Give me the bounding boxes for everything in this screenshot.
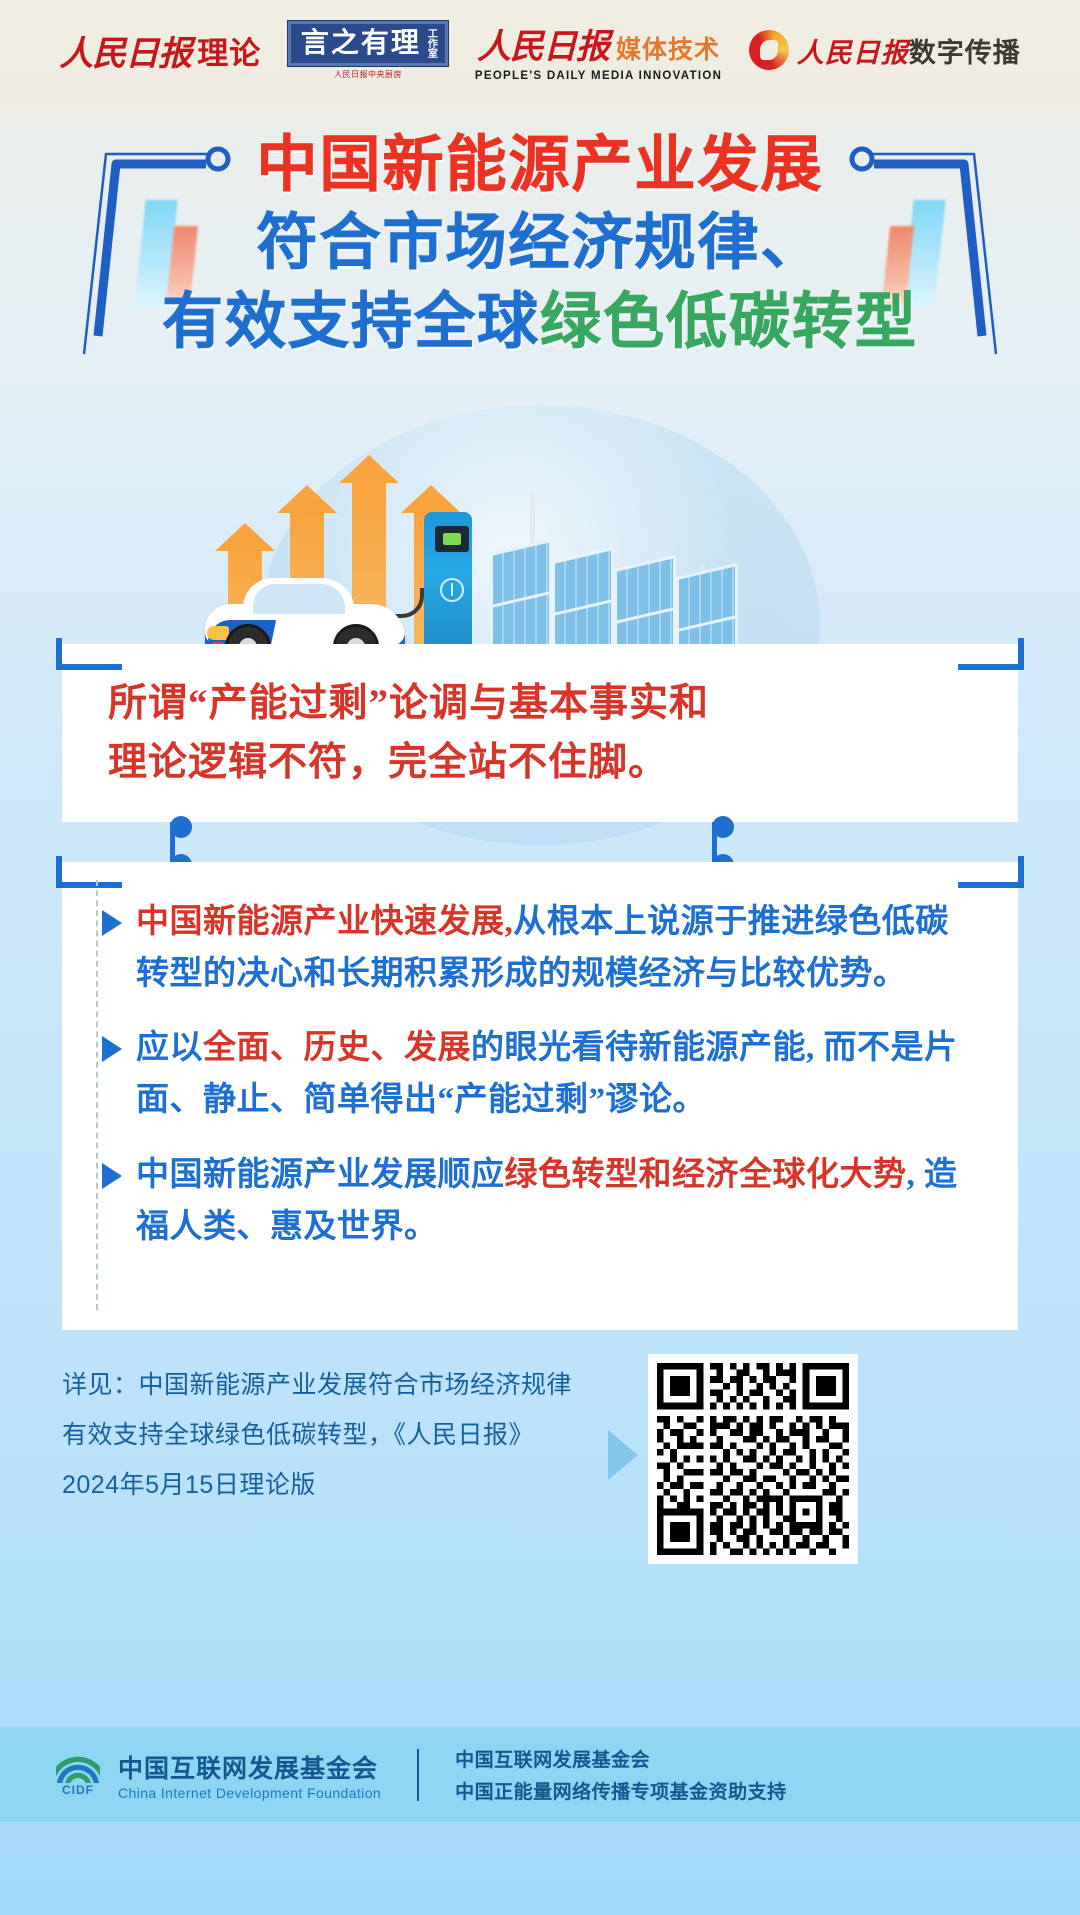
qr-pointer-arrow-icon bbox=[608, 1430, 638, 1480]
logo-peoples-daily-theory: 人民日报 理论 bbox=[59, 26, 261, 75]
bullet-triangle-icon bbox=[102, 1036, 122, 1062]
yanzhiyouli-footnote: 人民日报中央厨房 bbox=[334, 69, 402, 80]
connector-dot-right bbox=[712, 816, 734, 838]
bullet-triangle-icon bbox=[102, 1163, 122, 1189]
logo-peoples-daily-digital-communication: 人民日报数字传播 bbox=[749, 30, 1021, 70]
bullet-3-segment-2: 绿色转型和经济全球化大势 bbox=[505, 1157, 907, 1193]
cidf-abbreviation: CIDF bbox=[62, 1783, 94, 1797]
statement-callout-box: 所谓“产能过剩”论调与基本事实和 理论逻辑不符，完全站不住脚。 bbox=[62, 644, 1018, 822]
bullet-3-segment-1: 中国新能源产业发展顺应 bbox=[136, 1157, 505, 1193]
yanzhiyouli-seal: 言之有理 工作室 bbox=[288, 21, 449, 66]
media-innovation-english-label: PEOPLE'S DAILY MEDIA INNOVATION bbox=[475, 70, 722, 82]
bullet-item: 应以全面、历史、发展的眼光看待新能源产能, 而不是片面、静止、简单得出“产能过剩… bbox=[102, 1022, 978, 1126]
sponsor-credit-line-1: 中国互联网发展基金会 bbox=[455, 1745, 787, 1772]
bullet-triangle-icon bbox=[102, 910, 122, 936]
bullet-1-segment-1: 中国新能源产业快速发展, bbox=[136, 904, 513, 940]
bullet-2-segment-2: 全面、历史、发展 bbox=[203, 1030, 471, 1066]
header-logo-bar: 人民日报 理论 言之有理 工作室 人民日报中央厨房 人民日报 媒体技术 PEOP… bbox=[0, 0, 1080, 100]
title-line-3-part-a: 有效支持全球 bbox=[162, 287, 540, 355]
yanzhiyouli-seal-text: 言之有理 bbox=[301, 30, 421, 58]
illustration-new-energy-scene bbox=[0, 395, 1080, 670]
yanzhiyouli-studio-label: 工作室 bbox=[425, 28, 436, 58]
logo-theory-label: 理论 bbox=[197, 28, 261, 73]
page-title: 中国新能源产业发展 符合市场经济规律、 有效支持全球绿色低碳转型 bbox=[0, 108, 1080, 355]
sponsor-credit: 中国互联网发展基金会 中国正能量网络传播专项基金资助支持 bbox=[455, 1745, 787, 1804]
bullet-text-1: 中国新能源产业快速发展,从根本上说源于推进绿色低碳转型的决心和长期积累形成的规模… bbox=[136, 896, 978, 1000]
bullet-text-2: 应以全面、历史、发展的眼光看待新能源产能, 而不是片面、静止、简单得出“产能过剩… bbox=[136, 1022, 978, 1126]
media-technology-label: 媒体技术 bbox=[616, 30, 720, 66]
digital-communication-label: 数字传播 bbox=[909, 38, 1021, 68]
bullet-dashed-rail bbox=[96, 880, 98, 1310]
logo-peoples-daily-media-innovation: 人民日报 媒体技术 PEOPLE'S DAILY MEDIA INNOVATIO… bbox=[475, 19, 722, 82]
peoples-daily-masthead-text-media: 人民日报 bbox=[477, 19, 609, 68]
key-points-callout-box: 中国新能源产业快速发展,从根本上说源于推进绿色低碳转型的决心和长期积累形成的规模… bbox=[62, 862, 1018, 1330]
bottom-bar-divider bbox=[417, 1749, 419, 1801]
charger-display-icon bbox=[435, 526, 469, 552]
source-citation: 详见：中国新能源产业发展符合市场经济规律 有效支持全球绿色低碳转型，《人民日报》… bbox=[62, 1360, 622, 1510]
cidf-chinese-name: 中国互联网发展基金会 bbox=[118, 1749, 381, 1785]
charger-power-symbol-icon bbox=[440, 578, 464, 602]
bullet-2-segment-1: 应以 bbox=[136, 1030, 203, 1066]
title-line-1: 中国新能源产业发展 bbox=[0, 130, 1080, 198]
footer: 详见：中国新能源产业发展符合市场经济规律 有效支持全球绿色低碳转型，《人民日报》… bbox=[0, 1352, 1080, 1822]
cidf-logo: CIDF bbox=[56, 1753, 100, 1797]
bullet-text-3: 中国新能源产业发展顺应绿色转型和经济全球化大势, 造福人类、惠及世界。 bbox=[136, 1149, 978, 1253]
title-line-3: 有效支持全球绿色低碳转型 bbox=[0, 287, 1080, 355]
peoples-daily-masthead-text-digital: 人民日报 bbox=[797, 38, 909, 68]
logo-yanzhiyouli-studio: 言之有理 工作室 人民日报中央厨房 bbox=[288, 21, 449, 80]
bullet-item: 中国新能源产业快速发展,从根本上说源于推进绿色低碳转型的决心和长期积累形成的规模… bbox=[102, 896, 978, 1000]
sponsor-credit-line-2: 中国正能量网络传播专项基金资助支持 bbox=[455, 1777, 787, 1804]
qr-code-image[interactable] bbox=[657, 1363, 849, 1555]
cidf-names: 中国互联网发展基金会 China Internet Development Fo… bbox=[118, 1749, 381, 1801]
qr-code[interactable] bbox=[648, 1354, 858, 1564]
source-line-3: 2024年5月15日理论版 bbox=[62, 1460, 622, 1510]
statement-line-1: 所谓“产能过剩”论调与基本事实和 bbox=[108, 674, 972, 733]
cidf-english-name: China Internet Development Foundation bbox=[118, 1785, 381, 1801]
source-line-1: 详见：中国新能源产业发展符合市场经济规律 bbox=[62, 1360, 622, 1410]
sponsor-bottom-bar: CIDF 中国互联网发展基金会 China Internet Developme… bbox=[0, 1727, 1080, 1822]
statement-line-2: 理论逻辑不符，完全站不住脚。 bbox=[108, 733, 972, 792]
title-area: 中国新能源产业发展 符合市场经济规律、 有效支持全球绿色低碳转型 bbox=[0, 108, 1080, 418]
connector-dot-left bbox=[170, 816, 192, 838]
digital-orb-icon bbox=[749, 30, 789, 70]
cidf-wave-icon bbox=[56, 1753, 100, 1783]
infographic-poster: 人民日报 理论 言之有理 工作室 人民日报中央厨房 人民日报 媒体技术 PEOP… bbox=[0, 0, 1080, 1915]
title-line-2: 符合市场经济规律、 bbox=[0, 208, 1080, 276]
bullet-item: 中国新能源产业发展顺应绿色转型和经济全球化大势, 造福人类、惠及世界。 bbox=[102, 1149, 978, 1253]
source-line-2: 有效支持全球绿色低碳转型，《人民日报》 bbox=[62, 1410, 622, 1460]
peoples-daily-masthead-text: 人民日报 bbox=[59, 26, 191, 75]
title-line-3-part-b: 绿色低碳转型 bbox=[540, 287, 918, 355]
